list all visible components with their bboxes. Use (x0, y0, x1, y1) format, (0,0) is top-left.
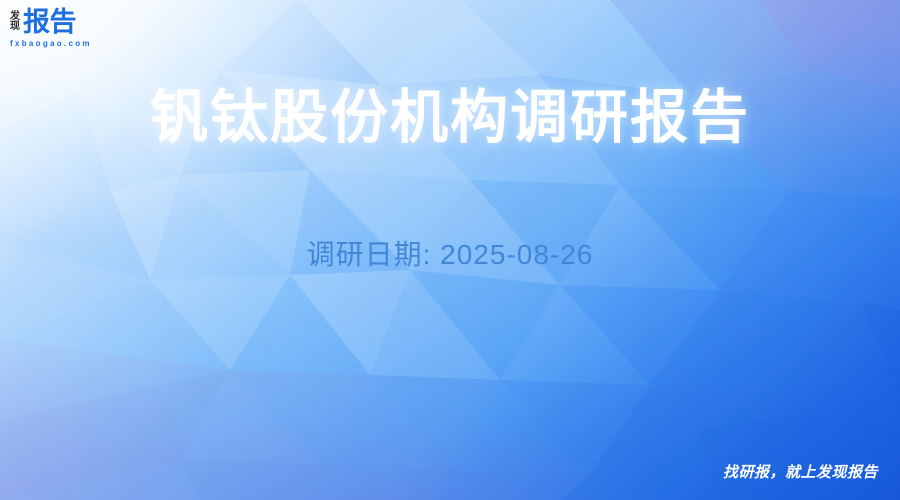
page-title: 钒钛股份机构调研报告 (0, 86, 900, 151)
footer-slogan: 找研报，就上发现报告 (723, 461, 878, 482)
brand-logo[interactable]: 发 现 报告 fxbaogao.com (10, 9, 92, 48)
logo-stacked-mark: 发 现 (10, 12, 20, 33)
research-date-subtitle: 调研日期: 2025-08-26 (0, 233, 900, 273)
logo-wordmark-row: 发 现 报告 (10, 9, 76, 36)
logo-website-url: fxbaogao.com (10, 39, 92, 48)
logo-mark-bottom-char: 现 (10, 22, 20, 32)
logo-brand-name: 报告 (23, 9, 76, 36)
report-cover-page: 发 现 报告 fxbaogao.com 钒钛股份机构调研报告 调研日期: 202… (0, 0, 900, 500)
